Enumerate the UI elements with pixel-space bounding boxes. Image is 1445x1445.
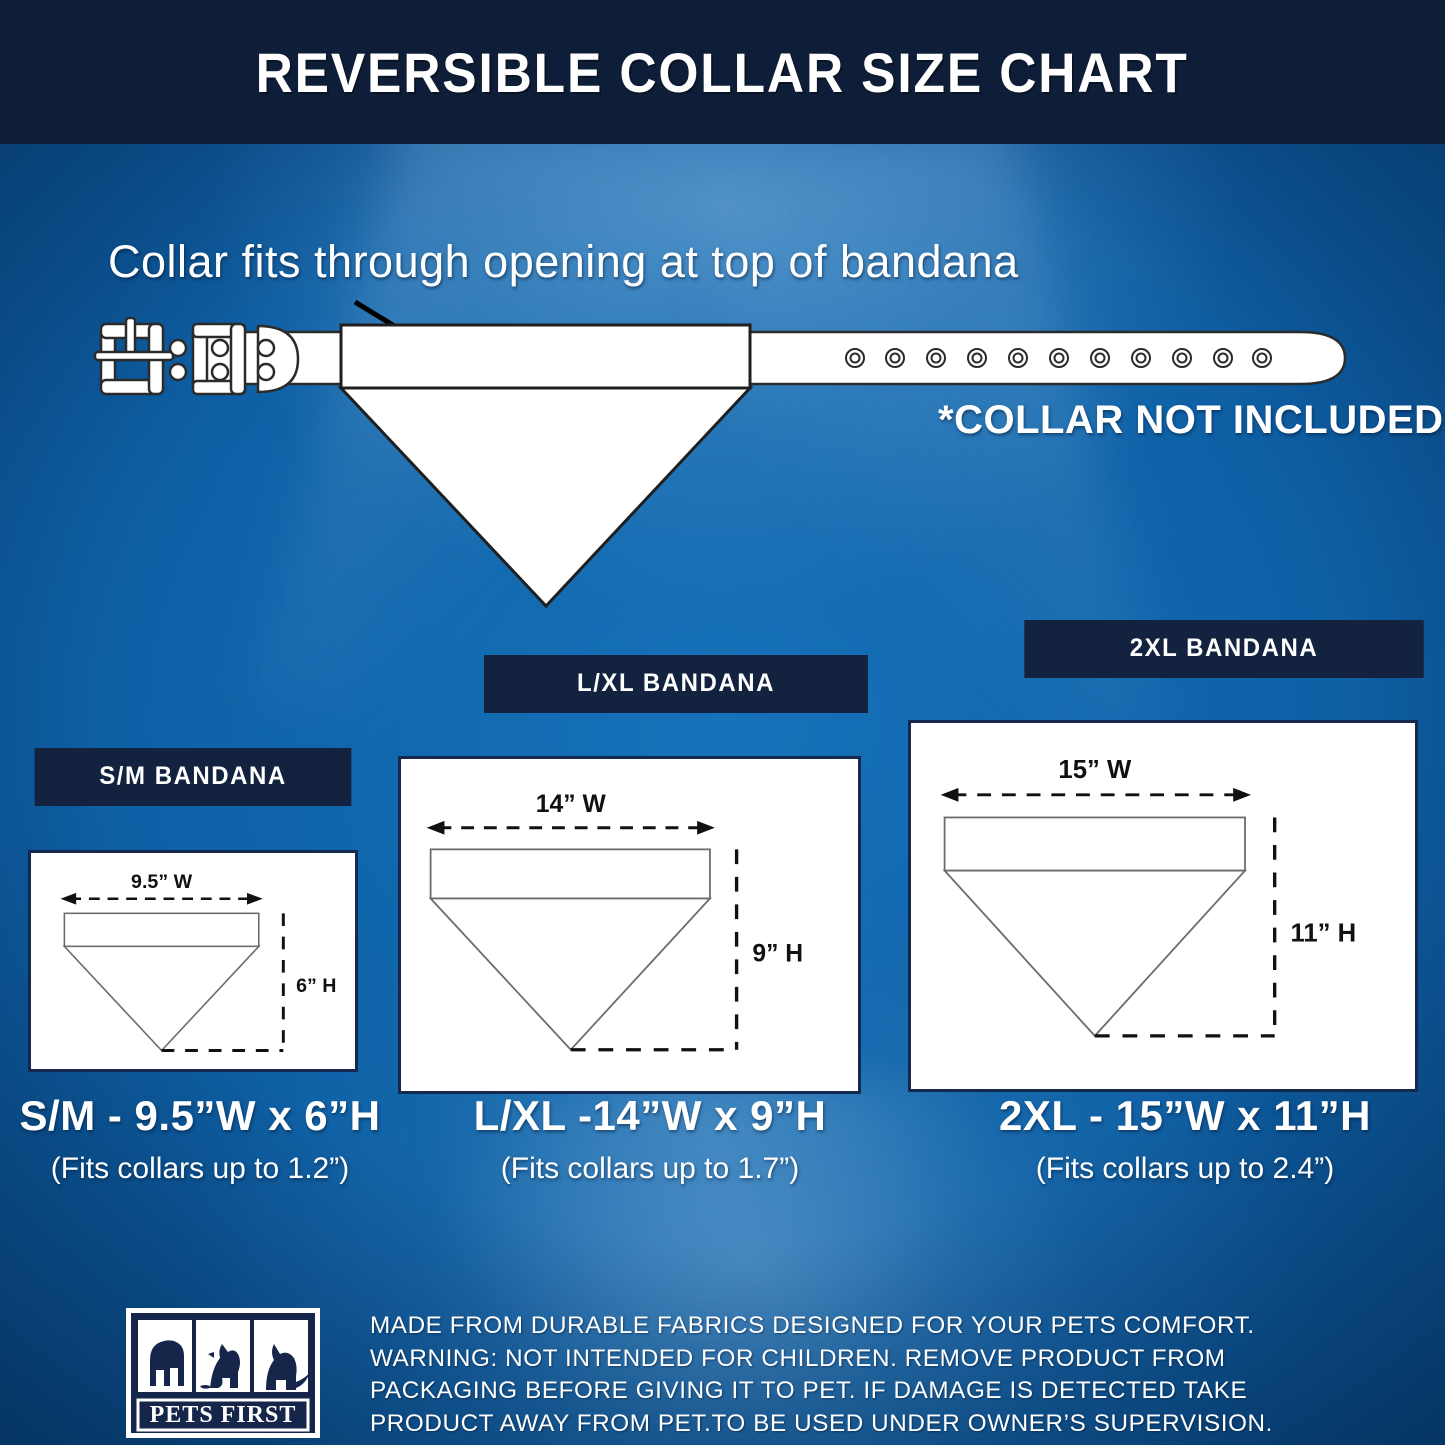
caption-lxl-line1: L/XL -14”W x 9”H xyxy=(430,1092,870,1140)
panel-2xl-card: 15” W 11” H xyxy=(908,720,1418,1092)
caption-sm-line2: (Fits collars up to 1.2”) xyxy=(0,1152,400,1186)
panel-lxl-card: 14” W 9” H xyxy=(398,756,861,1094)
collar-bandana-illustration xyxy=(0,280,1445,640)
caption-sm: S/M - 9.5”W x 6”H (Fits collars up to 1.… xyxy=(0,1092,400,1186)
panel-2xl-width-label: 15” W xyxy=(1058,756,1132,784)
caption-2xl-line2: (Fits collars up to 2.4”) xyxy=(940,1152,1430,1186)
panel-sm-width-label: 9.5” W xyxy=(131,871,193,893)
caption-lxl-line2: (Fits collars up to 1.7”) xyxy=(430,1152,870,1186)
size-chart-poster: REVERSIBLE COLLAR SIZE CHART Collar fits… xyxy=(0,0,1445,1445)
panel-lxl-diagram: 14” W 9” H xyxy=(401,759,858,1091)
width-dimension-lxl xyxy=(427,821,715,835)
panel-2xl: 2XL BANDANA 15” W 11” H xyxy=(908,620,1418,1092)
width-dimension-2xl xyxy=(941,788,1251,802)
panel-lxl-tag: L/XL BANDANA xyxy=(484,655,868,713)
panel-sm: S/M BANDANA 9.5” W 6” H xyxy=(28,748,358,1072)
panel-lxl-width-label: 14” W xyxy=(536,791,607,818)
page-title: REVERSIBLE COLLAR SIZE CHART xyxy=(256,40,1189,105)
bandana-shape xyxy=(341,325,750,606)
caption-2xl: 2XL - 15”W x 11”H (Fits collars up to 2.… xyxy=(940,1092,1430,1186)
panel-sm-card: 9.5” W 6” H xyxy=(28,850,358,1072)
collar-buckle-icon xyxy=(95,318,298,394)
bandana-outline-sm xyxy=(64,913,258,1050)
panel-2xl-height-label: 11” H xyxy=(1290,919,1356,947)
panel-sm-diagram: 9.5” W 6” H xyxy=(31,853,355,1069)
pets-first-logo: PETS FIRST xyxy=(126,1308,320,1438)
bandana-outline-lxl xyxy=(431,849,710,1049)
panel-2xl-diagram: 15” W 11” H xyxy=(911,723,1415,1089)
collar-not-included-note: *COLLAR NOT INCLUDED xyxy=(938,398,1444,443)
caption-2xl-line1: 2XL - 15”W x 11”H xyxy=(940,1092,1430,1140)
panel-2xl-tag: 2XL BANDANA xyxy=(1024,620,1423,678)
caption-sm-line1: S/M - 9.5”W x 6”H xyxy=(0,1092,400,1140)
header-band: REVERSIBLE COLLAR SIZE CHART xyxy=(0,0,1445,144)
disclaimer-line-1: MADE FROM DURABLE FABRICS DESIGNED FOR Y… xyxy=(370,1310,1340,1343)
bandana-outline-2xl xyxy=(945,817,1245,1035)
panel-sm-height-label: 6” H xyxy=(296,975,336,997)
panel-sm-tag: S/M BANDANA xyxy=(35,748,352,806)
disclaimer-text: MADE FROM DURABLE FABRICS DESIGNED FOR Y… xyxy=(370,1310,1350,1440)
disclaimer-line-2: WARNING: NOT INTENDED FOR CHILDREN. REMO… xyxy=(370,1343,1340,1376)
disclaimer-line-3: PACKAGING BEFORE GIVING IT TO PET. IF DA… xyxy=(370,1375,1340,1408)
logo-text: PETS FIRST xyxy=(150,1402,297,1428)
width-dimension-sm xyxy=(60,893,262,905)
caption-lxl: L/XL -14”W x 9”H (Fits collars up to 1.7… xyxy=(430,1092,870,1186)
panel-lxl-height-label: 9” H xyxy=(752,940,803,967)
panel-lxl: L/XL BANDANA 14” W 9” H xyxy=(398,655,861,1094)
disclaimer-line-4: PRODUCT AWAY FROM PET.TO BE USED UNDER O… xyxy=(370,1408,1340,1441)
